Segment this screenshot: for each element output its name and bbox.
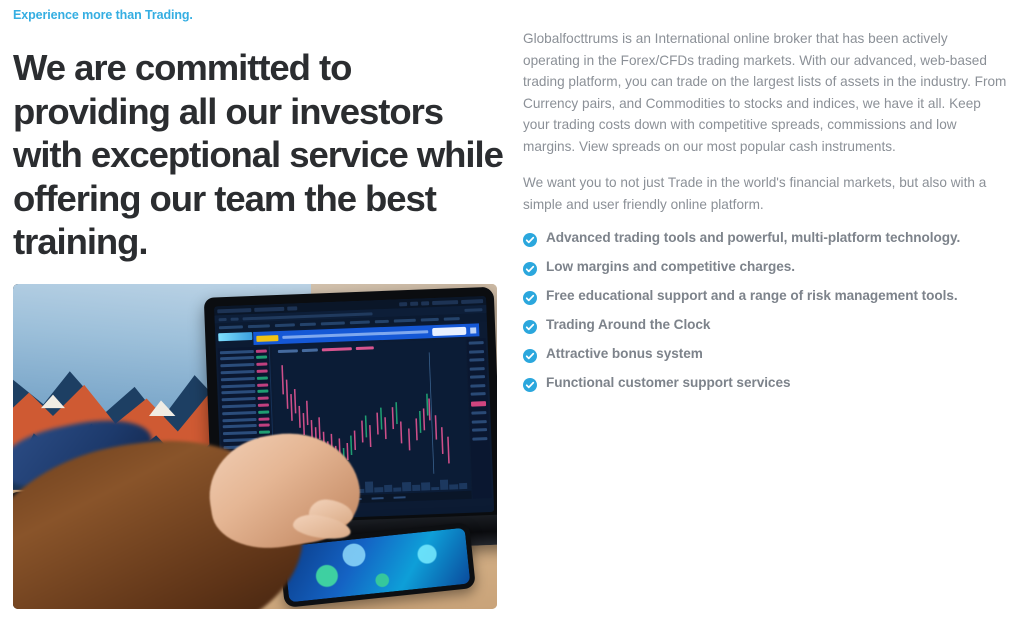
check-circle-icon	[523, 291, 537, 305]
secondary-paragraph: We want you to not just Trade in the wor…	[523, 172, 1005, 215]
platform-logo	[218, 332, 252, 341]
about-section: Experience more than Trading. We are com…	[0, 0, 1024, 621]
feature-list: Advanced trading tools and powerful, mul…	[523, 230, 1009, 404]
banner-close-icon[interactable]	[470, 327, 476, 333]
list-item-label: Advanced trading tools and powerful, mul…	[546, 230, 960, 246]
banner-message	[282, 330, 428, 339]
list-item: Functional customer support services	[523, 375, 1009, 404]
page-title: We are committed to providing all our in…	[13, 46, 513, 264]
chart-annotation	[278, 346, 374, 353]
left-column: Experience more than Trading. We are com…	[13, 0, 505, 621]
list-item-label: Attractive bonus system	[546, 346, 703, 362]
list-item-label: Free educational support and a range of …	[546, 288, 958, 304]
banner-cta-button[interactable]	[432, 326, 466, 335]
intro-paragraph: Globalfocttrums is an International onli…	[523, 28, 1007, 157]
trading-setup-photo	[13, 284, 497, 609]
section-eyebrow: Experience more than Trading.	[13, 8, 193, 22]
right-column: Globalfocttrums is an International onli…	[523, 0, 1009, 621]
list-item-label: Trading Around the Clock	[546, 317, 710, 333]
list-item-label: Functional customer support services	[546, 375, 790, 391]
check-circle-icon	[523, 378, 537, 392]
list-item: Free educational support and a range of …	[523, 288, 1009, 317]
check-circle-icon	[523, 349, 537, 363]
check-circle-icon	[523, 320, 537, 334]
banner-brand-mark	[256, 335, 278, 342]
list-item: Attractive bonus system	[523, 346, 1009, 375]
check-circle-icon	[523, 233, 537, 247]
list-item-label: Low margins and competitive charges.	[546, 259, 795, 275]
list-item: Trading Around the Clock	[523, 317, 1009, 346]
list-item: Advanced trading tools and powerful, mul…	[523, 230, 1009, 259]
check-circle-icon	[523, 262, 537, 276]
list-item: Low margins and competitive charges.	[523, 259, 1009, 288]
